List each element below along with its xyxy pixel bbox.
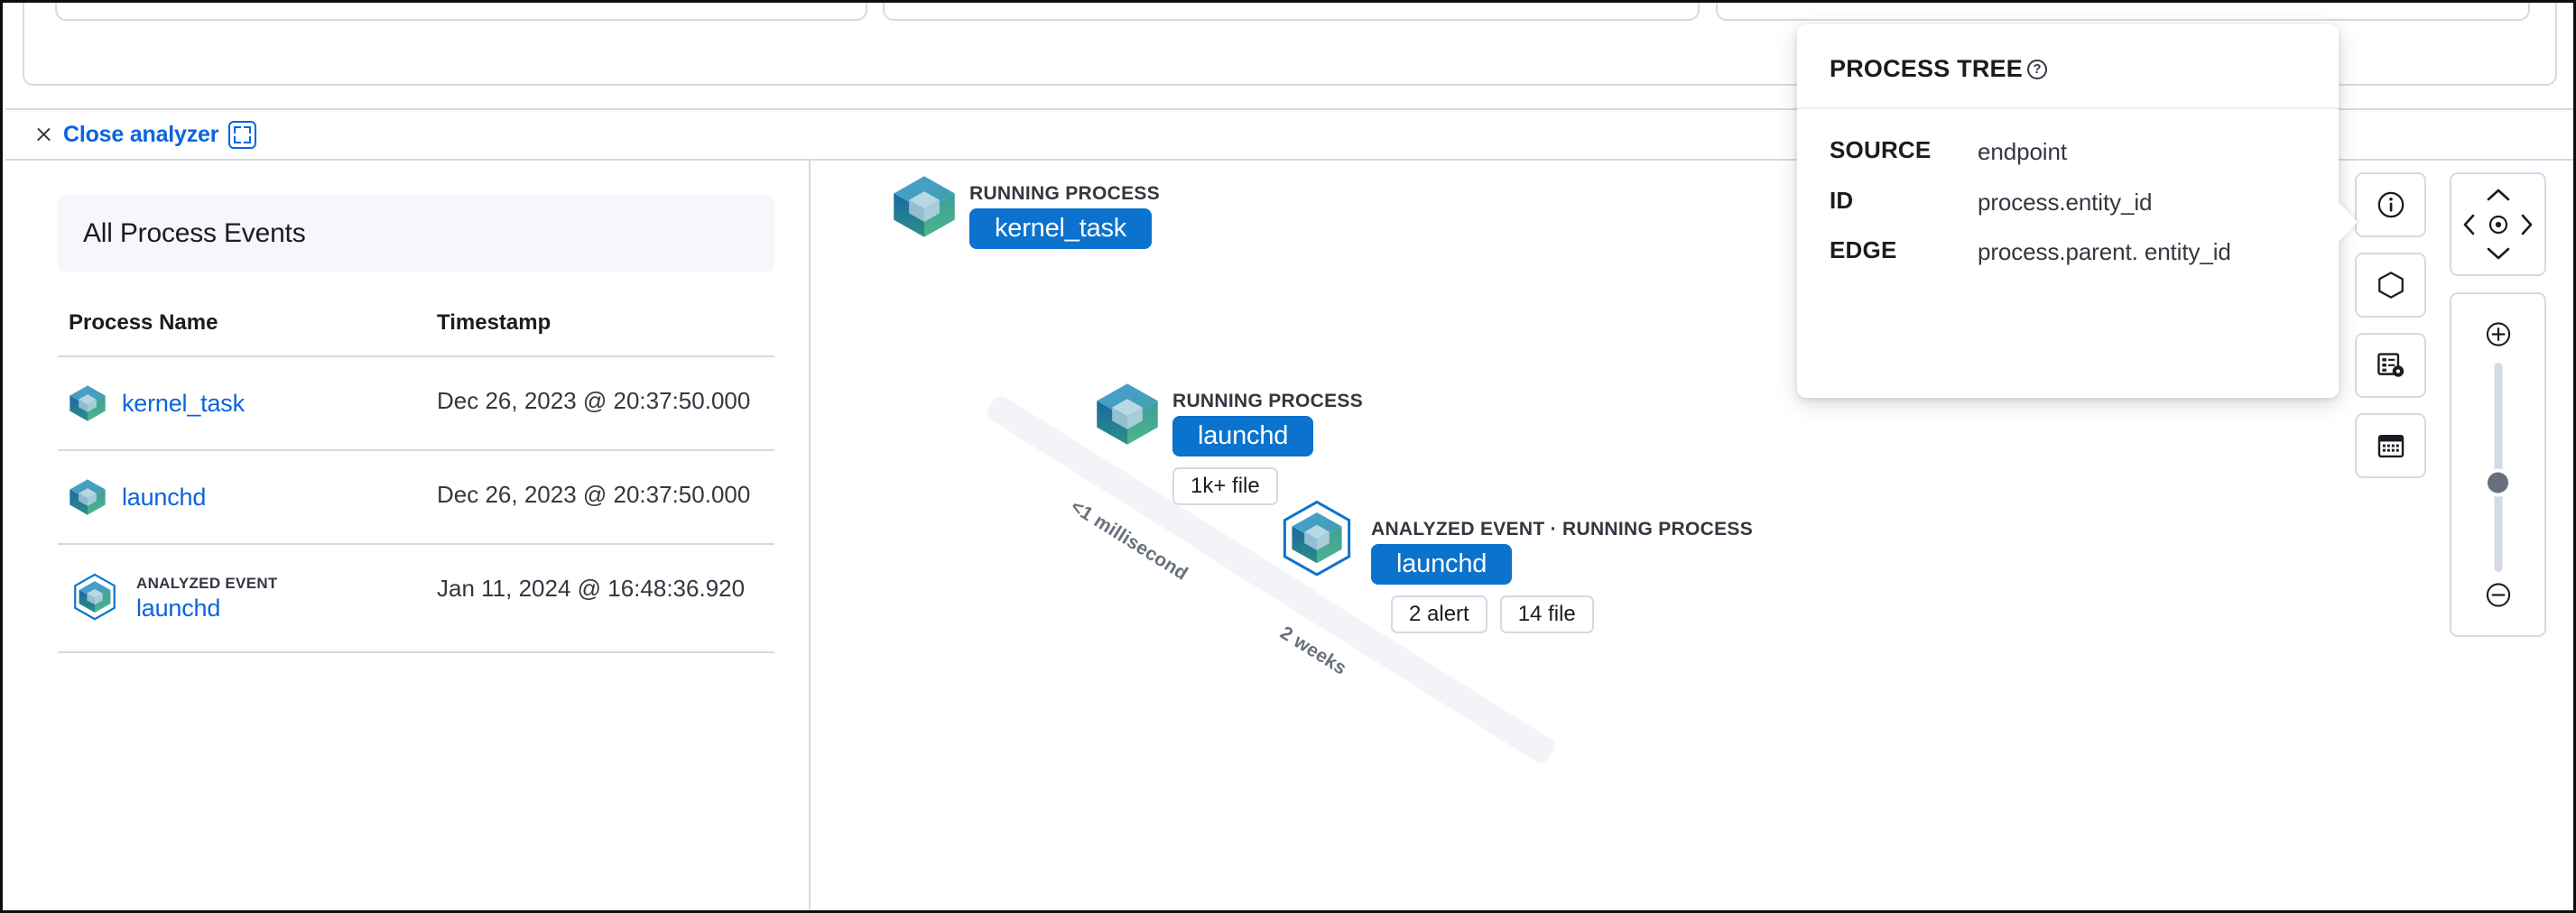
popover-value: process.parent. entity_id	[1978, 236, 2248, 268]
graph-node-kernel-task[interactable]: RUNNING PROCESS kernel_task	[892, 174, 1160, 249]
process-events-panel: All Process Events Process Name Timestam…	[5, 161, 811, 910]
node-body: RUNNING PROCESS kernel_task	[969, 183, 1160, 249]
popover-detail-list: SOURCE endpoint ID process.entity_id EDG…	[1797, 109, 2339, 268]
popover-row-source: SOURCE endpoint	[1830, 136, 2306, 168]
process-name-link[interactable]: kernel_task	[122, 390, 245, 418]
top-panel-card-3	[1716, 0, 2530, 21]
zoom-slider-panel[interactable]	[2450, 292, 2546, 637]
list-settings-icon	[2376, 350, 2406, 381]
calendar-icon	[2376, 430, 2406, 461]
analyzed-process-cube-icon	[1275, 499, 1358, 582]
popover-key: EDGE	[1830, 236, 1978, 268]
close-x-icon	[35, 126, 52, 143]
node-icon-wrap	[892, 174, 957, 239]
popover-row-edge: EDGE process.parent. entity_id	[1830, 236, 2306, 268]
process-name-link[interactable]: launchd	[122, 484, 206, 512]
info-circle-icon	[2376, 189, 2406, 220]
process-cube-icon	[69, 384, 107, 422]
close-analyzer-button[interactable]: Close analyzer	[35, 122, 218, 148]
popover-header: PROCESS TREE ?	[1797, 24, 2339, 83]
top-panel-card-2	[883, 0, 1700, 21]
cell-timestamp: Dec 26, 2023 @ 20:37:50.000	[428, 450, 774, 544]
table-row[interactable]: launchd Dec 26, 2023 @ 20:37:50.000	[58, 450, 774, 544]
cell-timestamp: Dec 26, 2023 @ 20:37:50.000	[428, 356, 774, 450]
graph-controls-rail	[2355, 172, 2546, 637]
cell-timestamp: Jan 11, 2024 @ 16:48:36.920	[428, 544, 774, 652]
analyzed-event-tag: ANALYZED EVENT	[136, 575, 278, 593]
column-header-process-name[interactable]: Process Name	[58, 305, 428, 356]
node-name-pill[interactable]: launchd	[1172, 416, 1313, 456]
node-kind-label: RUNNING PROCESS	[969, 183, 1160, 205]
node-icon-wrap	[1095, 382, 1160, 447]
badge-file-count[interactable]: 14 file	[1500, 595, 1594, 633]
popover-title: PROCESS TREE	[1830, 55, 2023, 83]
graph-navigation-controls	[2450, 172, 2546, 637]
popover-key: ID	[1830, 187, 1978, 218]
node-shape-button[interactable]	[2355, 253, 2426, 318]
table-row[interactable]: kernel_task Dec 26, 2023 @ 20:37:50.000	[58, 356, 774, 450]
node-kind-label: ANALYZED EVENT · RUNNING PROCESS	[1371, 519, 1753, 540]
chevron-up-icon[interactable]	[2486, 187, 2511, 203]
analyzer-screen: Close analyzer All Process Events Proces…	[0, 0, 2576, 913]
zoom-in-plus-icon[interactable]	[2483, 319, 2513, 349]
close-analyzer-label: Close analyzer	[63, 122, 218, 148]
pan-pad[interactable]	[2450, 172, 2546, 276]
zoom-slider-handle[interactable]	[2484, 469, 2512, 497]
page-title: All Process Events	[83, 218, 749, 249]
fullscreen-expand-icon[interactable]	[228, 121, 256, 149]
process-name-link[interactable]: launchd	[136, 595, 278, 622]
graph-node-launchd[interactable]: RUNNING PROCESS launchd 1k+ file	[1095, 382, 1363, 505]
chevron-right-icon[interactable]	[2519, 213, 2534, 236]
column-header-timestamp[interactable]: Timestamp	[428, 305, 774, 356]
top-panel-card-1	[55, 0, 867, 21]
node-body: ANALYZED EVENT · RUNNING PROCESS launchd…	[1371, 519, 1753, 633]
analyzed-process-cube-icon	[69, 572, 121, 624]
popover-value: process.entity_id	[1978, 187, 2152, 218]
cell-process-name: launchd	[58, 450, 428, 544]
process-cube-icon	[69, 478, 107, 516]
process-cube-icon	[892, 174, 957, 239]
table-header-row: Process Name Timestamp	[58, 305, 774, 356]
zoom-out-minus-icon[interactable]	[2483, 580, 2513, 610]
graph-node-analyzed-launchd[interactable]: ANALYZED EVENT · RUNNING PROCESS launchd…	[1275, 499, 1753, 633]
hexagon-icon	[2376, 270, 2406, 300]
table-row[interactable]: ANALYZED EVENT launchd Jan 11, 2024 @ 16…	[58, 544, 774, 652]
legend-info-button[interactable]	[2355, 172, 2426, 237]
popover-key: SOURCE	[1830, 136, 1978, 168]
cell-process-name: ANALYZED EVENT launchd	[58, 544, 428, 652]
node-badges: 2 alert 14 file	[1391, 595, 1753, 633]
events-title-box: All Process Events	[58, 195, 774, 272]
node-icon-wrap	[1275, 499, 1358, 582]
chevron-left-icon[interactable]	[2462, 213, 2477, 236]
node-name-pill[interactable]: launchd	[1371, 544, 1512, 585]
process-tree-popover: PROCESS TREE ? SOURCE endpoint ID proces…	[1797, 24, 2339, 398]
process-cube-icon	[1095, 382, 1160, 447]
badge-file-count[interactable]: 1k+ file	[1172, 467, 1278, 505]
popover-value: endpoint	[1978, 136, 2067, 168]
node-name-pill[interactable]: kernel_task	[969, 208, 1152, 249]
node-kind-label: RUNNING PROCESS	[1172, 391, 1363, 412]
cell-process-name: kernel_task	[58, 356, 428, 450]
recenter-target-icon[interactable]	[2485, 211, 2512, 238]
popover-row-id: ID process.entity_id	[1830, 187, 2306, 218]
date-picker-button[interactable]	[2355, 413, 2426, 478]
process-events-table: Process Name Timestamp	[58, 305, 774, 653]
zoom-slider-track[interactable]	[2494, 363, 2502, 572]
node-body: RUNNING PROCESS launchd 1k+ file	[1172, 391, 1363, 505]
schema-settings-button[interactable]	[2355, 333, 2426, 398]
help-question-icon[interactable]: ?	[2027, 60, 2047, 79]
graph-tool-buttons	[2355, 172, 2426, 478]
badge-alert-count[interactable]: 2 alert	[1391, 595, 1487, 633]
chevron-down-icon[interactable]	[2486, 245, 2511, 262]
